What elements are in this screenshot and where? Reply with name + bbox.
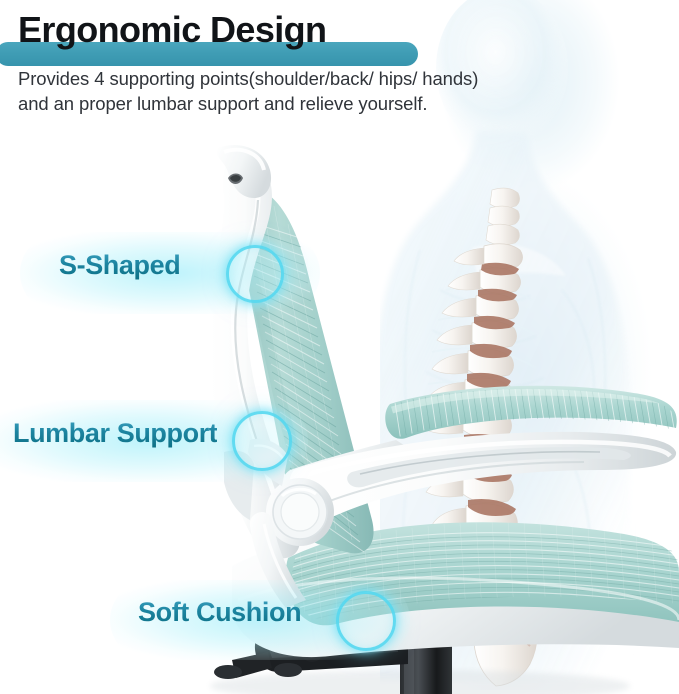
- highlight-ring: [232, 411, 292, 471]
- callout-label: Lumbar Support: [13, 418, 217, 449]
- page-title-block: Ergonomic Design: [18, 8, 326, 52]
- highlight-ring: [336, 591, 396, 651]
- callout-label: Soft Cushion: [138, 597, 301, 628]
- highlight-ring: [226, 245, 284, 303]
- page-title: Ergonomic Design: [18, 8, 326, 52]
- callout-label: S-Shaped: [59, 250, 180, 281]
- product-marketing-image: Ergonomic Design Provides 4 supporting p…: [0, 0, 679, 694]
- page-subtitle: Provides 4 supporting points(shoulder/ba…: [18, 66, 618, 116]
